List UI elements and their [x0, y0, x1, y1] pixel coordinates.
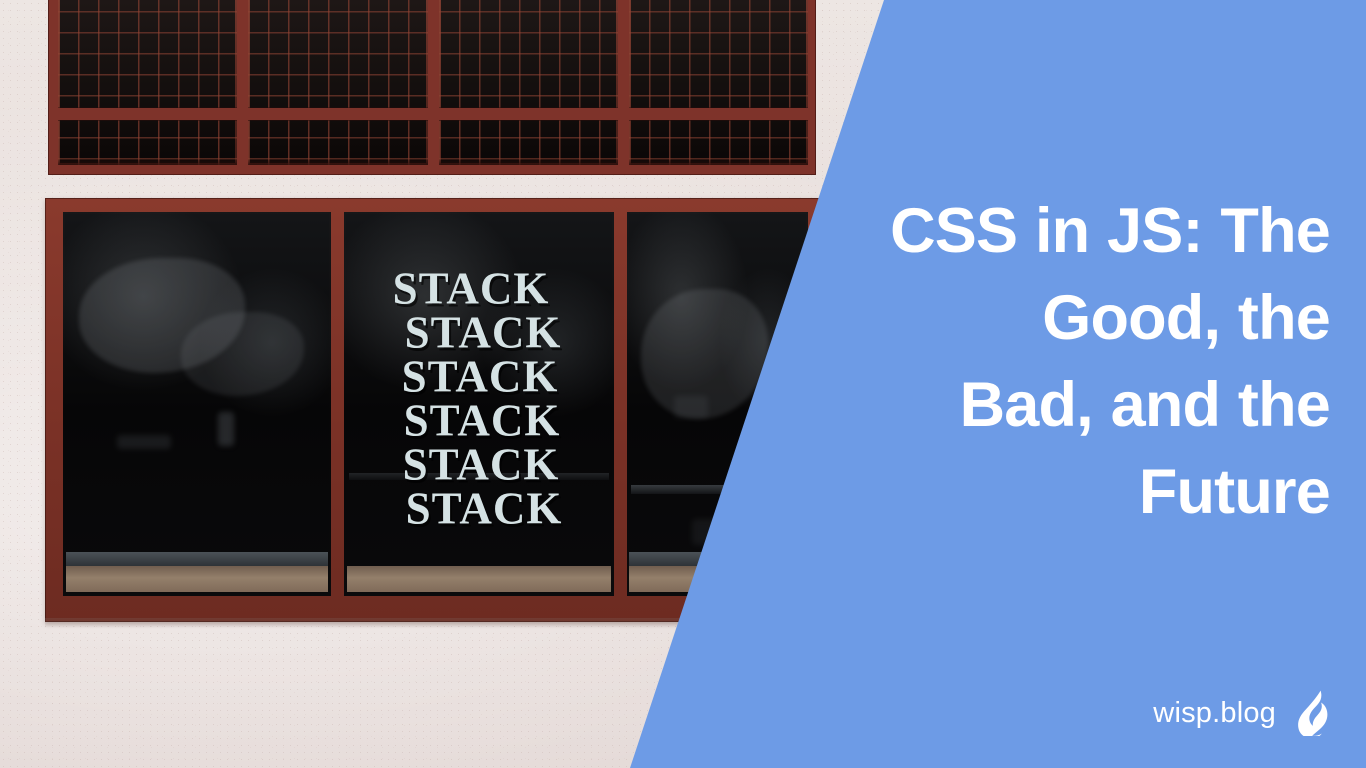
transom-pane [629, 0, 808, 165]
interior-object [218, 412, 234, 446]
brand-lockup[interactable]: wisp.blog [1153, 690, 1332, 736]
window-sill [347, 566, 612, 592]
title-block: CSS in JS: The Good, the Bad, and the Fu… [878, 188, 1330, 536]
stack-sign-line: STACK [346, 443, 614, 487]
transom-mullion [248, 108, 427, 120]
stack-sign: STACK STACK STACK STACK STACK STACK [344, 266, 614, 531]
mesh-texture [439, 0, 618, 165]
window-pane-left [63, 212, 331, 596]
title-line: Bad, and the [960, 370, 1330, 440]
transom-pane [248, 0, 427, 165]
brand-name: wisp.blog [1153, 699, 1276, 728]
transom-panes [58, 0, 808, 165]
mesh-texture [629, 0, 808, 165]
transom-pane [58, 0, 237, 165]
interior-sign [674, 396, 708, 418]
stack-sign-line: STACK [347, 399, 614, 443]
mesh-texture [248, 0, 427, 165]
stack-sign-line: STACK [345, 355, 614, 399]
wisp-flame-icon [1298, 690, 1332, 736]
window-pane-center: STACK STACK STACK STACK STACK STACK [344, 212, 614, 596]
transom-mullion [58, 108, 237, 120]
pane-shadow [629, 158, 808, 165]
title-line: Future [1139, 457, 1330, 527]
transom-pane [439, 0, 618, 165]
pane-shadow [439, 158, 618, 165]
stack-sign-line: STACK [344, 266, 606, 310]
window-panes: STACK STACK STACK STACK STACK STACK [63, 212, 808, 596]
stack-sign-line: STACK [349, 487, 614, 531]
mesh-texture [58, 0, 237, 165]
title-line: CSS in JS: The [890, 196, 1330, 266]
window-sill [66, 566, 329, 592]
transom-mullion [439, 108, 618, 120]
page-title: CSS in JS: The Good, the Bad, and the Fu… [878, 188, 1330, 536]
transom-mullion [629, 108, 808, 120]
pane-shadow [248, 158, 427, 165]
transom-window [48, 0, 816, 175]
interior-object [117, 435, 171, 449]
social-share-card: STACK STACK STACK STACK STACK STACK [0, 0, 1366, 768]
interior-shelf [66, 552, 329, 566]
pane-shadow [58, 158, 237, 165]
title-line: Good, the [1042, 283, 1330, 353]
stack-sign-line: STACK [348, 311, 614, 355]
